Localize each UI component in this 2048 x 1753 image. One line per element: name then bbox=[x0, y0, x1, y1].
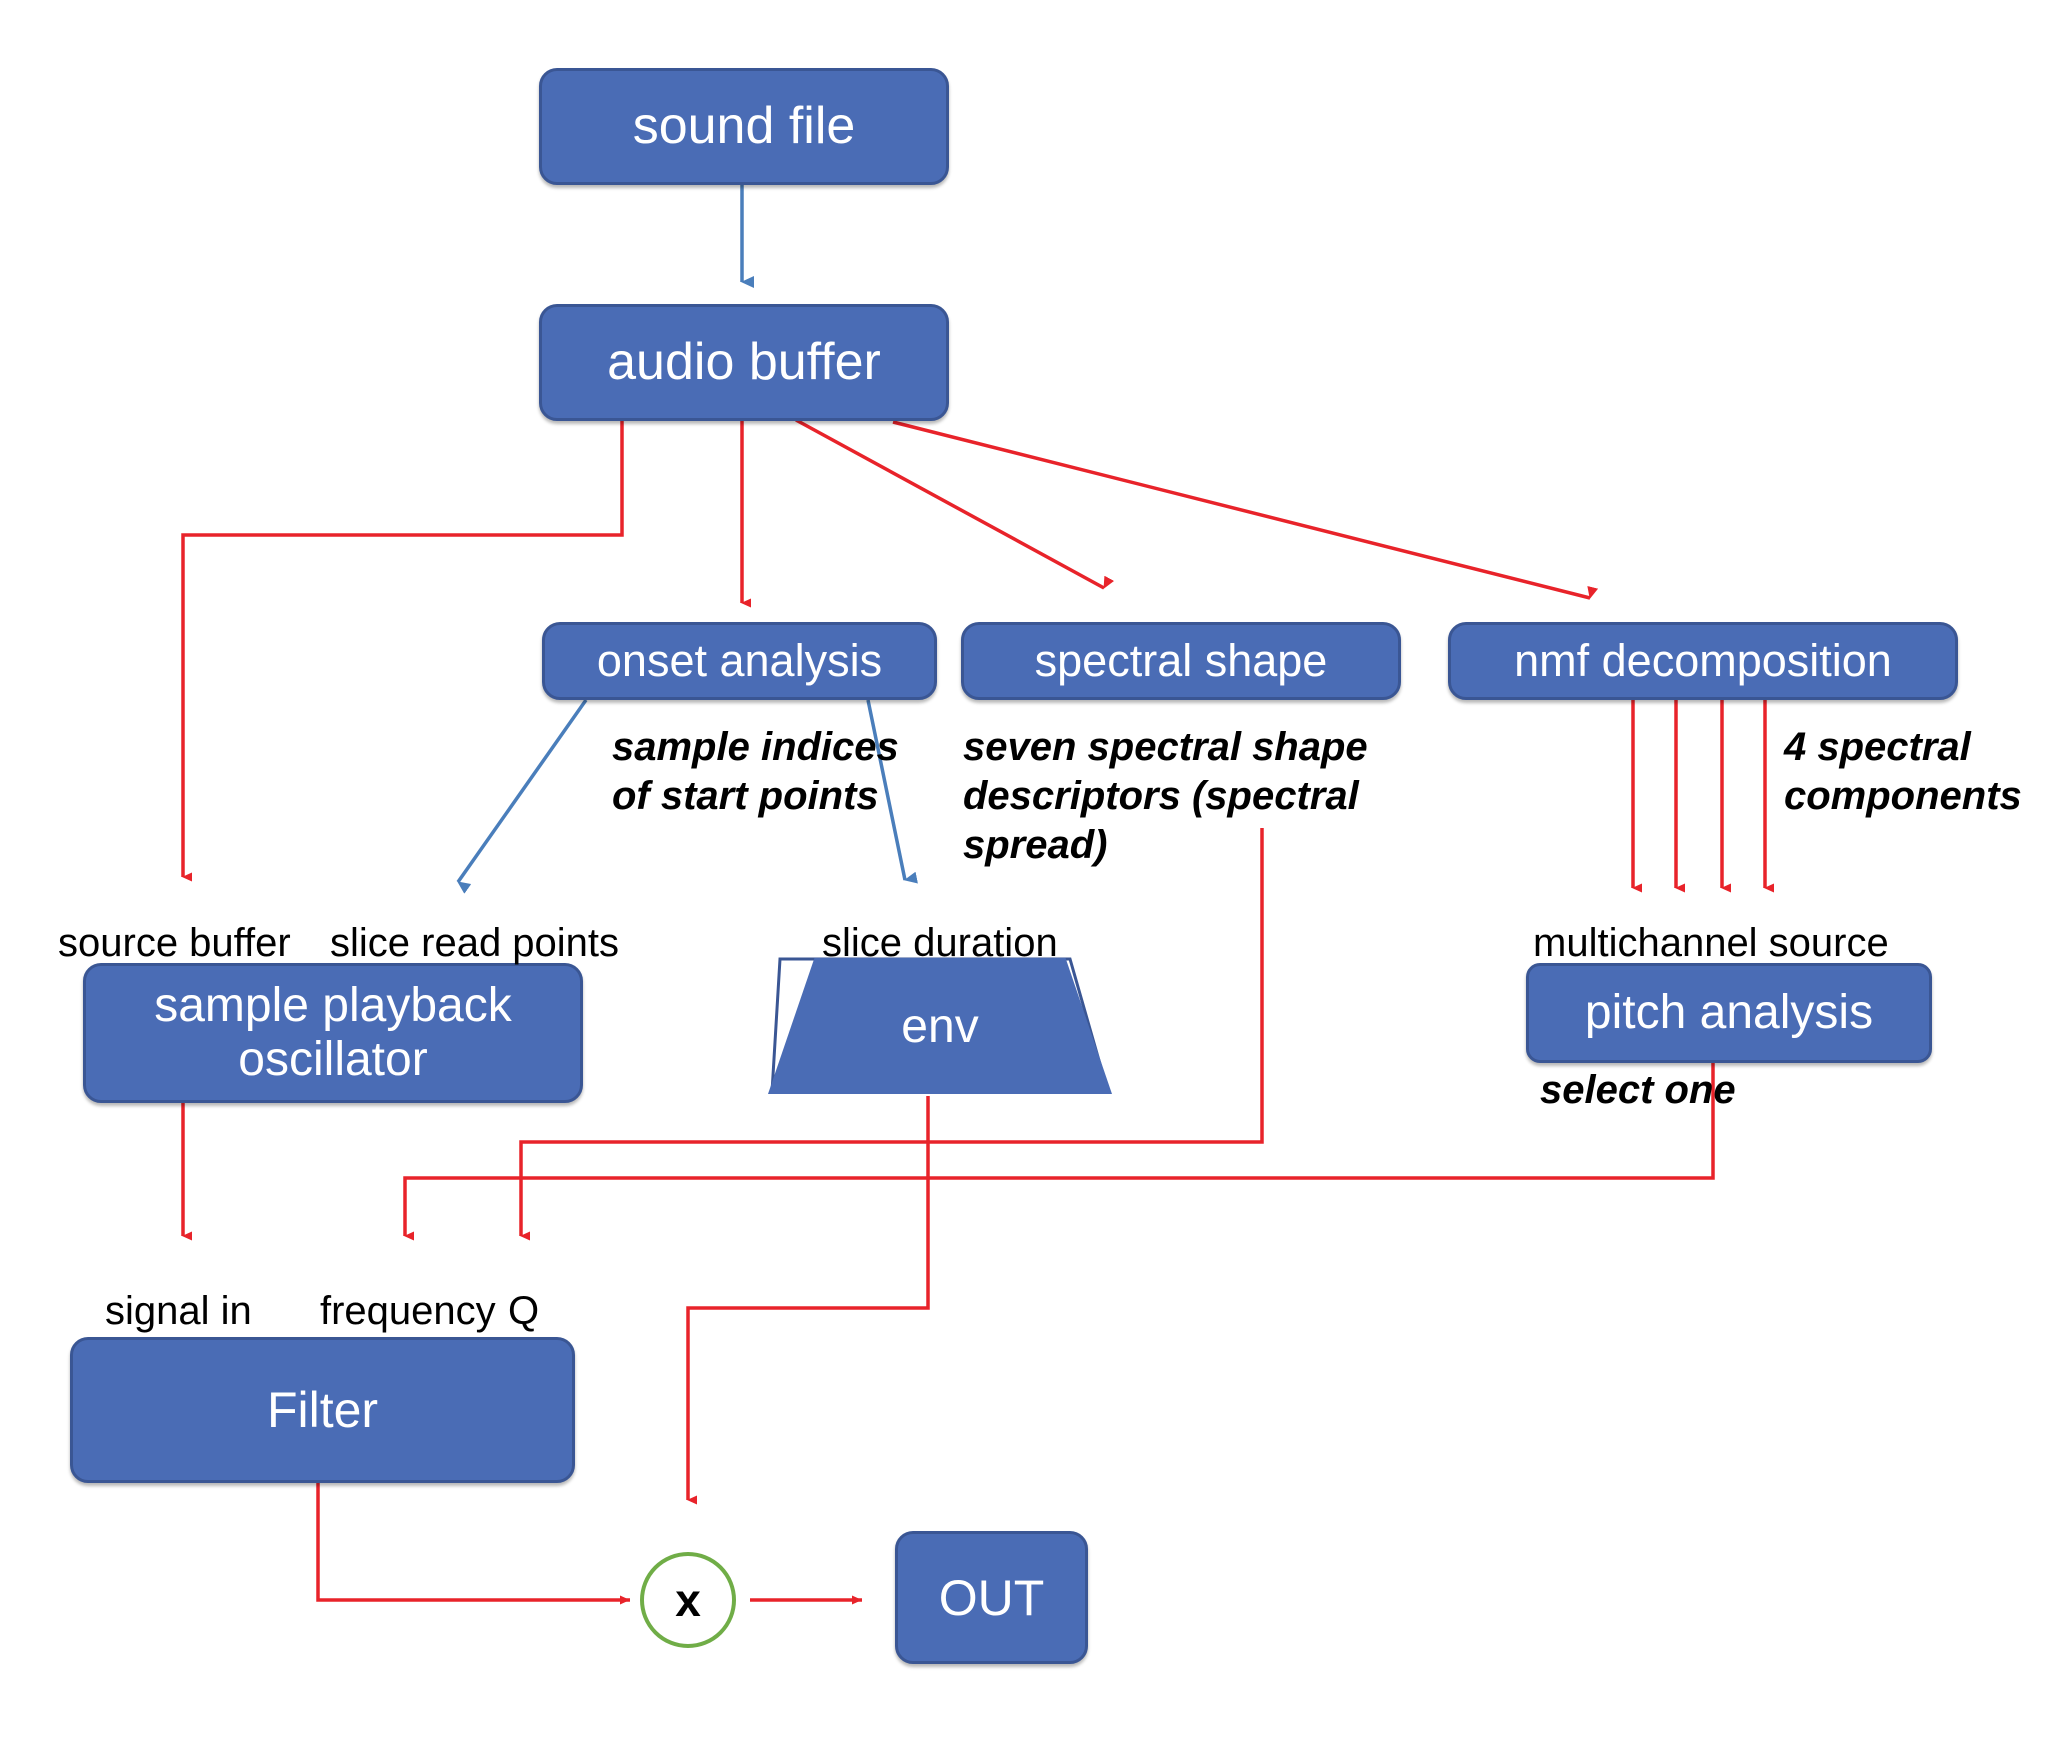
port-label-multichannel-source-text: multichannel source bbox=[1533, 921, 1889, 965]
node-filter[interactable]: Filter bbox=[70, 1337, 575, 1483]
annotation-spectral-line2: descriptors (spectral bbox=[963, 772, 1368, 821]
multiply-node[interactable]: x bbox=[640, 1552, 736, 1648]
port-label-multichannel-source: multichannel source bbox=[1533, 920, 1889, 966]
port-label-slice-duration-text: slice duration bbox=[822, 921, 1058, 965]
port-label-frequency: frequency bbox=[320, 1288, 496, 1334]
annotation-spectral-line3: spread) bbox=[963, 821, 1368, 870]
node-spectral-shape-label: spectral shape bbox=[1035, 636, 1328, 686]
node-sound-file[interactable]: sound file bbox=[539, 68, 949, 185]
wire-audio-buffer-to-nmf-decomposition bbox=[893, 422, 1590, 598]
multiply-symbol: x bbox=[675, 1573, 701, 1627]
annotation-spectral-shape: seven spectral shape descriptors (spectr… bbox=[963, 723, 1368, 869]
node-pitch-analysis[interactable]: pitch analysis bbox=[1526, 963, 1932, 1063]
node-pitch-analysis-label: pitch analysis bbox=[1585, 986, 1873, 1040]
annotation-nmf-line2: components bbox=[1784, 772, 2022, 821]
port-label-slice-duration: slice duration bbox=[822, 920, 1058, 966]
node-audio-buffer[interactable]: audio buffer bbox=[539, 304, 949, 421]
wire-filter-to-multiply bbox=[318, 1483, 630, 1600]
node-nmf-decomposition-label: nmf decomposition bbox=[1514, 636, 1892, 686]
node-spectral-shape[interactable]: spectral shape bbox=[961, 622, 1401, 700]
annotation-onset-line1: sample indices bbox=[612, 723, 899, 772]
port-label-source-buffer-text: source buffer bbox=[58, 921, 291, 965]
connection-wires bbox=[0, 0, 2048, 1753]
node-onset-analysis[interactable]: onset analysis bbox=[542, 622, 937, 700]
port-label-source-buffer: source buffer bbox=[58, 920, 291, 966]
node-env[interactable]: env bbox=[768, 958, 1112, 1094]
annotation-nmf-line1: 4 spectral bbox=[1784, 723, 2022, 772]
port-label-signal-in: signal in bbox=[105, 1288, 252, 1334]
port-label-q-text: Q bbox=[508, 1289, 539, 1333]
node-sample-playback-oscillator[interactable]: sample playback oscillator bbox=[83, 963, 583, 1103]
diagram-canvas: sound file audio buffer onset analysis s… bbox=[0, 0, 2048, 1753]
annotation-pitch-text: select one bbox=[1540, 1066, 1736, 1115]
port-label-slice-read-points-text: slice read points bbox=[330, 921, 619, 965]
wire-audio-buffer-to-spectral-shape bbox=[796, 420, 1104, 588]
port-label-q: Q bbox=[508, 1288, 539, 1334]
node-env-label: env bbox=[901, 999, 978, 1054]
annotation-onset-line2: of start points bbox=[612, 772, 899, 821]
annotation-nmf-decomposition: 4 spectral components bbox=[1784, 723, 2022, 821]
annotation-onset-analysis: sample indices of start points bbox=[612, 723, 899, 821]
wire-onset-analysis-to-slice-read-points bbox=[458, 700, 586, 882]
node-audio-buffer-label: audio buffer bbox=[607, 333, 881, 391]
node-out[interactable]: OUT bbox=[895, 1531, 1088, 1664]
node-sound-file-label: sound file bbox=[633, 97, 856, 155]
node-nmf-decomposition[interactable]: nmf decomposition bbox=[1448, 622, 1958, 700]
node-sample-playback-line1: sample playback bbox=[154, 979, 512, 1033]
node-onset-analysis-label: onset analysis bbox=[597, 636, 882, 686]
annotation-spectral-line1: seven spectral shape bbox=[963, 723, 1368, 772]
port-label-slice-read-points: slice read points bbox=[330, 920, 619, 966]
annotation-pitch-analysis: select one bbox=[1540, 1066, 1736, 1115]
node-out-label: OUT bbox=[939, 1570, 1045, 1626]
node-filter-label: Filter bbox=[267, 1382, 378, 1438]
node-sample-playback-line2: oscillator bbox=[238, 1033, 427, 1087]
port-label-signal-in-text: signal in bbox=[105, 1289, 252, 1333]
port-label-frequency-text: frequency bbox=[320, 1289, 496, 1333]
wire-env-to-multiply bbox=[688, 1096, 928, 1500]
